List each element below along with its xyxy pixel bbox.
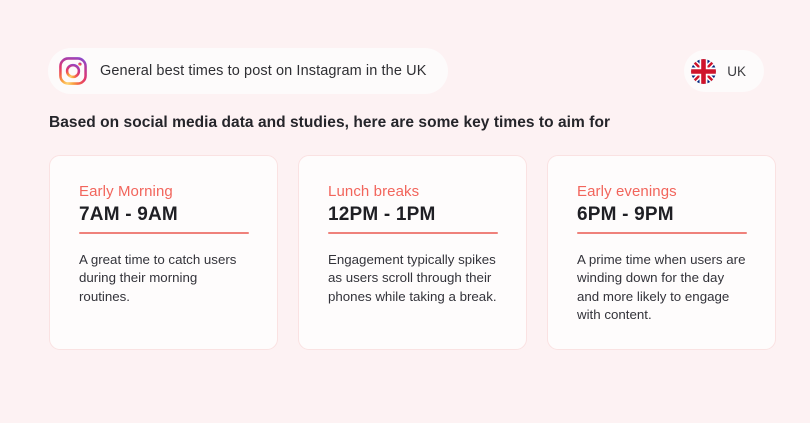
locale-pill[interactable]: UK	[684, 50, 764, 92]
card-description: A prime time when users are winding down…	[577, 251, 747, 325]
title-pill: General best times to post on Instagram …	[48, 48, 448, 94]
header: General best times to post on Instagram …	[0, 48, 810, 94]
card-divider	[79, 232, 249, 234]
card-time-range: 7AM - 9AM	[79, 204, 249, 226]
time-card: Lunch breaks 12PM - 1PM Engagement typic…	[298, 155, 527, 350]
time-card: Early Morning 7AM - 9AM A great time to …	[49, 155, 278, 350]
card-divider	[328, 232, 498, 234]
card-divider	[577, 232, 747, 234]
page-subtitle: Based on social media data and studies, …	[49, 114, 610, 132]
card-description: A great time to catch users during their…	[79, 251, 249, 307]
uk-flag-icon	[691, 59, 716, 84]
time-card: Early evenings 6PM - 9PM A prime time wh…	[547, 155, 776, 350]
card-time-range: 12PM - 1PM	[328, 204, 498, 226]
title-text: General best times to post on Instagram …	[100, 63, 426, 79]
time-cards-list: Early Morning 7AM - 9AM A great time to …	[49, 155, 761, 350]
card-label: Early evenings	[577, 183, 747, 200]
instagram-icon	[58, 56, 88, 86]
card-label: Lunch breaks	[328, 183, 498, 200]
card-time-range: 6PM - 9PM	[577, 204, 747, 226]
card-description: Engagement typically spikes as users scr…	[328, 251, 498, 307]
locale-label: UK	[727, 64, 746, 79]
card-label: Early Morning	[79, 183, 249, 200]
